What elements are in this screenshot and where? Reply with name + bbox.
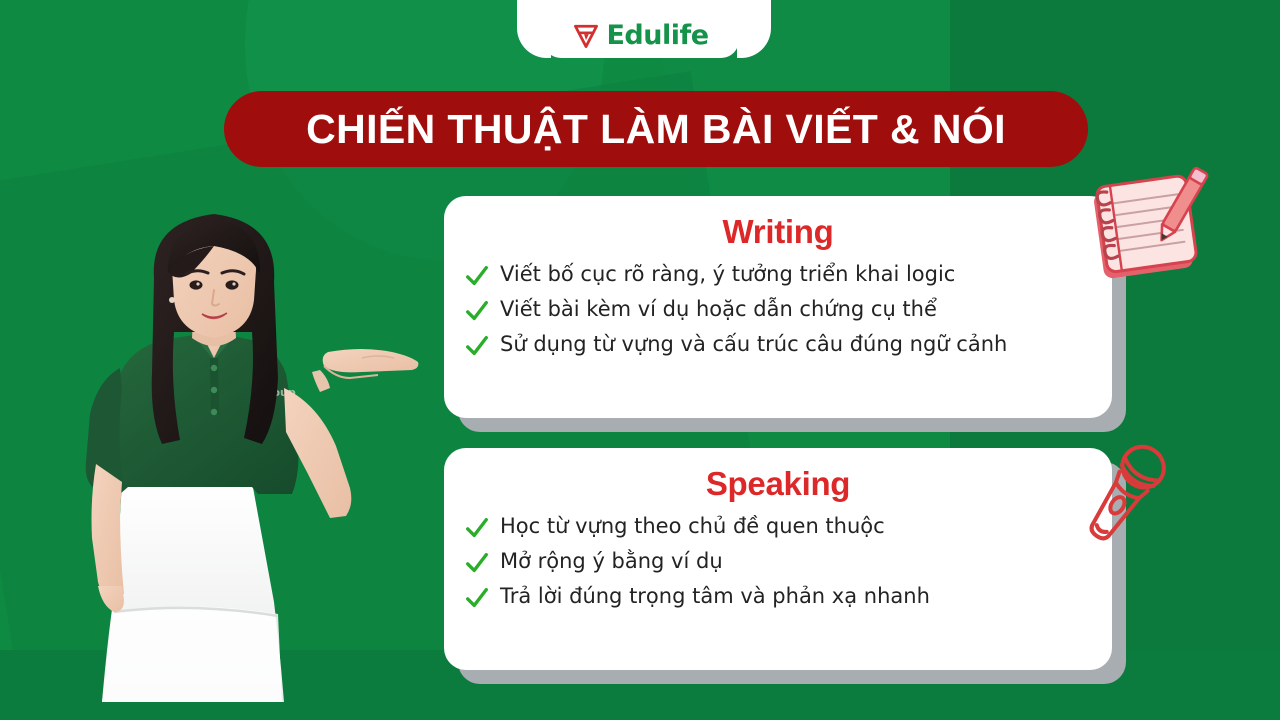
page-title-banner: CHIẾN THUẬT LÀM BÀI VIẾT & NÓI: [224, 91, 1088, 167]
writing-card-heading: Writing: [444, 196, 1112, 251]
brand-name: Edulife: [606, 22, 708, 49]
microphone-icon: [1073, 437, 1173, 557]
green-check-icon: [464, 550, 490, 576]
brand-logo-tab[interactable]: Edulife: [543, 0, 739, 58]
list-item-label: Viết bố cục rõ ràng, ý tưởng triển khai …: [500, 261, 955, 287]
green-check-icon: [464, 263, 490, 289]
notepad-pencil-icon: [1078, 165, 1214, 289]
list-item-label: Sử dụng từ vựng và cấu trúc câu đúng ngữ…: [500, 331, 1007, 357]
infographic-canvas: Group: [0, 0, 1280, 720]
writing-card: Writing Viết bố cục rõ ràng, ý tưởng tri…: [444, 196, 1112, 418]
speaking-card-heading: Speaking: [444, 448, 1112, 503]
speaking-card: Speaking Học từ vựng theo chủ đề quen th…: [444, 448, 1112, 670]
list-item-label: Trả lời đúng trọng tâm và phản xạ nhanh: [500, 583, 930, 609]
list-item-label: Viết bài kèm ví dụ hoặc dẫn chứng cụ thể: [500, 296, 937, 322]
list-item-label: Mở rộng ý bằng ví dụ: [500, 548, 723, 574]
list-item: Sử dụng từ vựng và cấu trúc câu đúng ngữ…: [464, 331, 1096, 359]
writing-bullet-list: Viết bố cục rõ ràng, ý tưởng triển khai …: [444, 251, 1112, 359]
green-check-icon: [464, 298, 490, 324]
list-item: Viết bố cục rõ ràng, ý tưởng triển khai …: [464, 261, 1096, 289]
green-check-icon: [464, 585, 490, 611]
list-item: Trả lời đúng trọng tâm và phản xạ nhanh: [464, 583, 1096, 611]
list-item: Mở rộng ý bằng ví dụ: [464, 548, 1096, 576]
list-item: Viết bài kèm ví dụ hoặc dẫn chứng cụ thể: [464, 296, 1096, 324]
green-check-icon: [464, 333, 490, 359]
speaking-bullet-list: Học từ vựng theo chủ đề quen thuộc Mở rộ…: [444, 503, 1112, 611]
list-item-label: Học từ vựng theo chủ đề quen thuộc: [500, 513, 885, 539]
green-check-icon: [464, 515, 490, 541]
presenter-illustration: Group: [62, 182, 432, 720]
page-title: CHIẾN THUẬT LÀM BÀI VIẾT & NÓI: [306, 106, 1006, 153]
list-item: Học từ vựng theo chủ đề quen thuộc: [464, 513, 1096, 541]
edulife-funnel-icon: [573, 23, 599, 49]
